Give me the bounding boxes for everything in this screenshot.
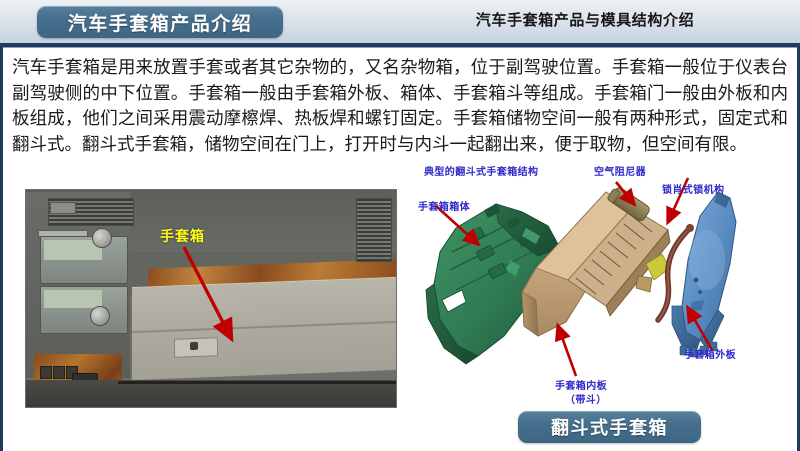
photo-lower-dash [26, 380, 396, 407]
page-title: 汽车手套箱产品与模具结构介绍 [420, 9, 750, 30]
label-air-damper: 空气阻尼器 [594, 163, 646, 178]
photo-radio-screen-lower [44, 290, 102, 308]
label-inner-panel: 手套箱内板 [555, 377, 607, 392]
photo-knob-lower [90, 306, 110, 326]
diagram-title: 典型的翻斗式手套箱结构 [424, 163, 538, 178]
photo-lower-seam [118, 381, 396, 384]
slide: 汽车手套箱产品介绍 汽车手套箱产品与模具结构介绍 汽车手套箱是用来放置手套或者其… [0, 0, 800, 451]
title-badge-label: 汽车手套箱产品介绍 [68, 9, 253, 36]
photo-switch-1 [40, 366, 52, 379]
label-outer-panel: 手套箱外板 [684, 346, 736, 361]
body-paragraph: 汽车手套箱是用来放置手套或者其它杂物的，又名杂物箱，位于副驾驶位置。手套箱一般位… [12, 56, 788, 158]
exploded-diagram: 典型的翻斗式手套箱结构 手套箱箱体 空气阻尼器 锁肖式锁机构 手套箱内板 （带斗… [400, 160, 800, 410]
photo-air-vent-right [356, 198, 392, 262]
photo-switch-2 [53, 366, 65, 379]
dashboard-photo: 手套箱 [25, 189, 397, 408]
photo-glovebox-keyhole [190, 342, 198, 350]
label-inner-panel-sub: （带斗） [565, 391, 607, 406]
label-housing: 手套箱箱体 [418, 198, 470, 213]
photo-glovebox-door [132, 277, 396, 380]
slide-border-left [0, 47, 3, 451]
caption-badge-label: 翻斗式手套箱 [551, 414, 668, 440]
arrow-inner-panel [558, 326, 576, 376]
title-badge: 汽车手套箱产品介绍 [37, 6, 283, 38]
photo-vent-button [50, 202, 76, 214]
header-divider-light [0, 47, 800, 48]
caption-badge: 翻斗式手套箱 [518, 411, 701, 443]
photo-knob-upper [92, 228, 112, 248]
label-lock-mechanism: 锁肖式锁机构 [662, 181, 724, 196]
photo-callout-label: 手套箱 [160, 226, 205, 246]
part-outer-panel [672, 192, 736, 357]
